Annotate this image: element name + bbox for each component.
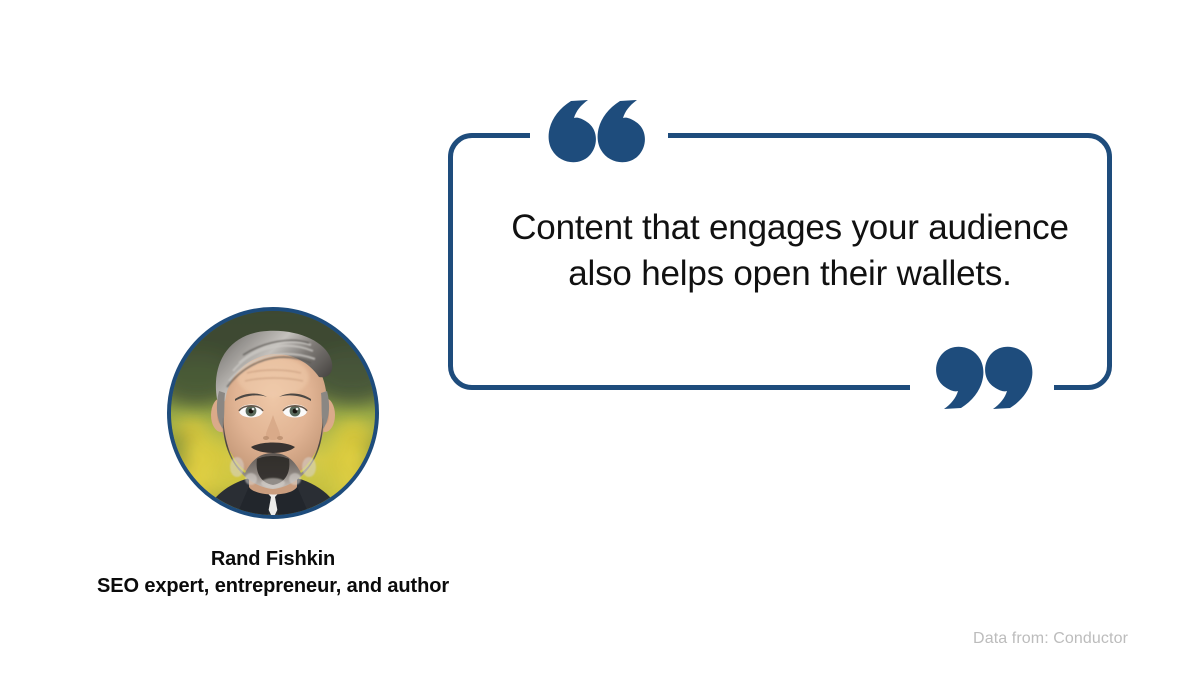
quote-block: Content that engages your audience also … <box>440 80 1140 420</box>
quote-card: Content that engages your audience also … <box>0 0 1200 700</box>
frame-corner-top-left <box>451 136 473 158</box>
frame-corner-top-right <box>1088 136 1110 158</box>
avatar-ring <box>167 307 379 519</box>
frame-corner-bottom-left <box>451 366 473 388</box>
person-name: Rand Fishkin <box>23 546 523 573</box>
person-role: SEO expert, entrepreneur, and author <box>23 573 523 600</box>
frame-corner-bottom-right <box>1088 366 1110 388</box>
close-quote-icon <box>936 347 1032 409</box>
open-quote-icon <box>549 100 645 162</box>
attribution: Rand Fishkin SEO expert, entrepreneur, a… <box>23 546 523 600</box>
source-note: Data from: Conductor <box>973 630 1128 648</box>
avatar <box>167 307 379 519</box>
avatar-photo <box>167 307 379 519</box>
quote-text: Content that engages your audience also … <box>476 205 1104 297</box>
